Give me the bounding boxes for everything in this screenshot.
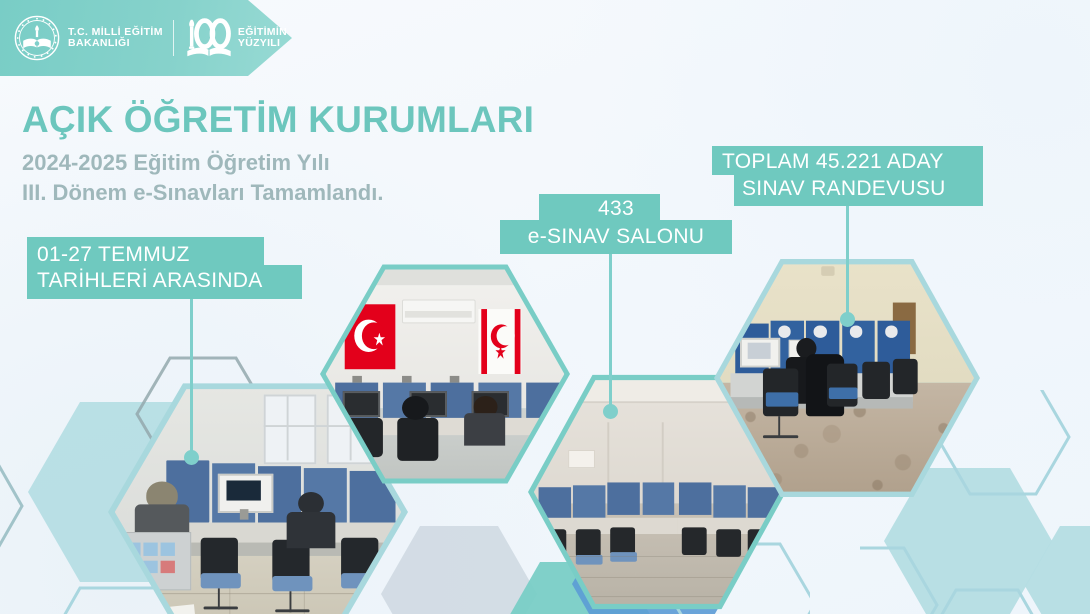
centenary-line2: YÜZYILI	[238, 38, 287, 49]
connector-line-middle	[609, 254, 612, 410]
centenary-logo: EĞİTİMİN YÜZYILI	[183, 16, 287, 60]
callout-exam-halls: 433 e-SINAV SALONU	[500, 194, 732, 254]
ministry-name-line2: BAKANLIĞI	[68, 38, 163, 49]
callout-date-range-box: 01-27 TEMMUZ TARİHLERİ ARASINDA	[27, 237, 302, 299]
centenary-text: EĞİTİMİN YÜZYILI	[238, 27, 287, 50]
poster-canvas: T.C. MİLLİ EĞİTİM BAKANLIĞI EĞİTİMİN YÜZ…	[0, 0, 1090, 614]
callout-date-range-line2: TARİHLERİ ARASINDA	[37, 268, 292, 294]
meb-emblem-icon	[14, 15, 60, 61]
connector-dot-right	[840, 312, 855, 327]
centenary-book-icon	[183, 16, 235, 60]
callout-candidate-appointments-line2: SINAV RANDEVUSU	[712, 175, 983, 202]
page-title: AÇIK ÖĞRETİM KURUMLARI	[22, 99, 534, 141]
connector-line-right	[846, 206, 849, 318]
callout-candidate-appointments-line1: TOPLAM 45.221 ADAY	[712, 146, 983, 175]
callout-candidate-appointments-box: TOPLAM 45.221 ADAY SINAV RANDEVUSU	[712, 146, 983, 206]
banner-divider	[173, 20, 174, 56]
connector-line-left	[190, 299, 193, 457]
connector-dot-left	[184, 450, 199, 465]
page-subtitle-line1: 2024-2025 Eğitim Öğretim Yılı	[22, 148, 383, 178]
callout-exam-halls-line2: e-SINAV SALONU	[500, 222, 732, 250]
callout-date-range: 01-27 TEMMUZ TARİHLERİ ARASINDA	[27, 237, 302, 299]
callout-date-range-line1: 01-27 TEMMUZ	[37, 242, 292, 268]
connector-dot-middle	[603, 404, 618, 419]
callout-exam-halls-line1: 433	[500, 194, 732, 222]
page-subtitle: 2024-2025 Eğitim Öğretim Yılı III. Dönem…	[22, 148, 383, 209]
page-subtitle-line2: III. Dönem e-Sınavları Tamamlandı.	[22, 178, 383, 208]
callout-exam-halls-box: 433 e-SINAV SALONU	[500, 194, 732, 254]
callout-candidate-appointments: TOPLAM 45.221 ADAY SINAV RANDEVUSU	[712, 146, 983, 206]
ministry-name: T.C. MİLLİ EĞİTİM BAKANLIĞI	[68, 27, 163, 50]
ministry-banner-content: T.C. MİLLİ EĞİTİM BAKANLIĞI EĞİTİMİN YÜZ…	[0, 0, 292, 76]
